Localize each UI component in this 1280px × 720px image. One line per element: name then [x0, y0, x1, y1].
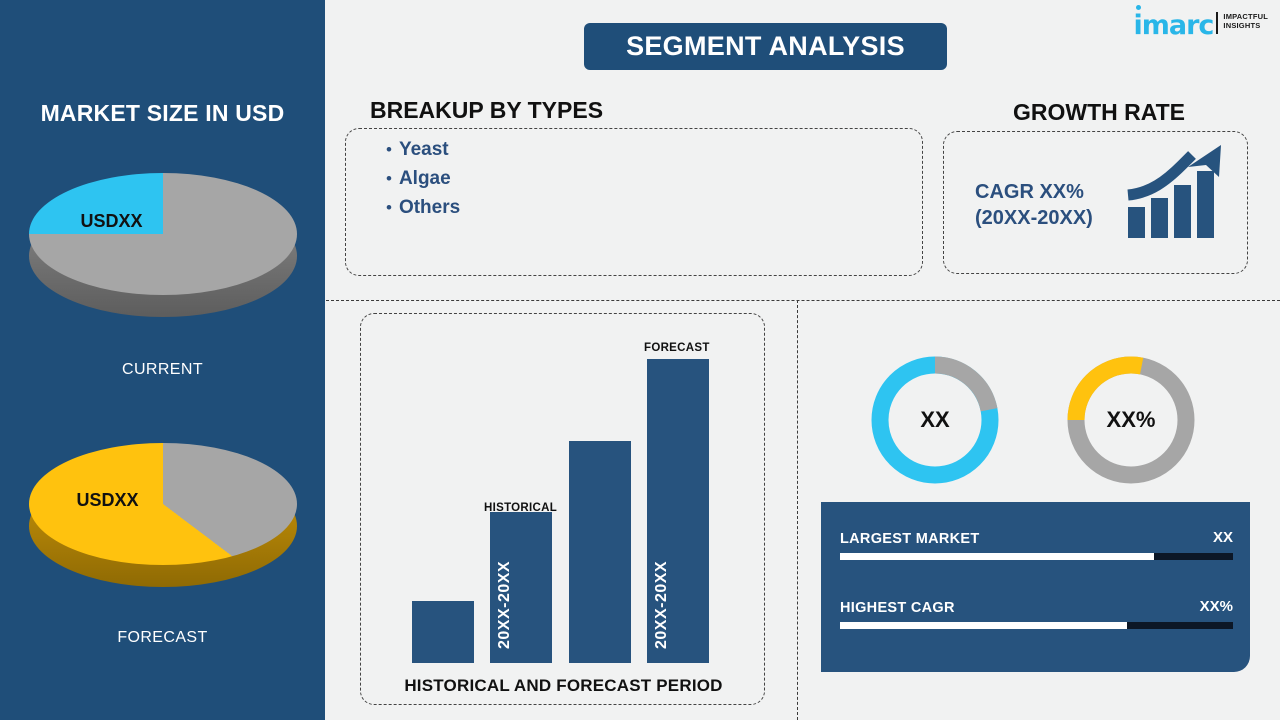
stat-row-highest-cagr: HIGHEST CAGR XX% — [840, 600, 1233, 629]
stat-row-largest-market: LARGEST MARKET XX — [840, 531, 1233, 560]
growth-arrow-chart-icon — [1126, 143, 1226, 241]
pie-chart-current: USDXX — [0, 173, 325, 323]
breakup-list: • Yeast • Algae • Others — [386, 139, 460, 226]
cagr-text: CAGR XX% (20XX-20XX) — [975, 179, 1093, 232]
breakup-section-title: BREAKUP BY TYPES — [370, 97, 603, 124]
bullet-icon: • — [386, 141, 392, 158]
logo-wordmark: imarc — [1133, 12, 1213, 39]
infographic-page: MARKET SIZE IN USD USDXX CURRENT USDXX F… — [0, 0, 1280, 720]
list-item-label: Others — [399, 197, 460, 219]
cagr-line-1: CAGR XX% — [975, 179, 1093, 205]
stat-value: XX% — [1200, 598, 1233, 615]
list-item: • Algae — [386, 168, 460, 190]
pie-chart-forecast: USDXX — [0, 443, 325, 593]
sidebar-title: MARKET SIZE IN USD — [0, 100, 325, 127]
pie-slice-label-current: USDXX — [81, 211, 143, 232]
logo-word-text: imarc — [1133, 12, 1213, 39]
cagr-line-2: (20XX-20XX) — [975, 205, 1093, 231]
list-item: • Others — [386, 197, 460, 219]
stat-progress-track — [840, 553, 1233, 560]
donut-chart-1: XX — [870, 355, 1000, 485]
list-item: • Yeast — [386, 139, 460, 161]
sidebar: MARKET SIZE IN USD USDXX CURRENT USDXX F… — [0, 0, 325, 720]
logo-tagline-line1: IMPACTFUL — [1223, 12, 1268, 21]
stat-label: HIGHEST CAGR — [840, 600, 955, 616]
stat-label: LARGEST MARKET — [840, 531, 980, 547]
bar-chart-panel: HISTORICAL 20XX-20XX FORECAST 20XX-20XX … — [360, 313, 765, 705]
stat-progress-fill — [840, 622, 1127, 629]
bar-chart-axis-label: HISTORICAL AND FORECAST PERIOD — [361, 676, 766, 696]
stat-value: XX — [1213, 529, 1233, 546]
horizontal-divider — [326, 300, 1280, 301]
page-title-banner: SEGMENT ANALYSIS — [584, 23, 947, 70]
bar-1 — [412, 601, 474, 663]
stat-header: LARGEST MARKET XX — [840, 531, 1233, 553]
pie-top-surface — [29, 173, 297, 295]
stat-progress-track — [840, 622, 1233, 629]
bar-2-year-label: 20XX-20XX — [496, 561, 514, 649]
pie-caption-current: CURRENT — [0, 361, 325, 379]
stats-panel: LARGEST MARKET XX HIGHEST CAGR XX% — [821, 502, 1250, 672]
pie-caption-forecast: FORECAST — [0, 629, 325, 647]
list-item-label: Algae — [399, 168, 451, 190]
bar-3 — [569, 441, 631, 663]
bullet-icon: • — [386, 170, 392, 187]
logo-divider — [1216, 12, 1218, 34]
page-title: SEGMENT ANALYSIS — [626, 31, 905, 62]
imarc-logo: imarc IMPACTFUL INSIGHTS — [1133, 12, 1268, 44]
logo-tagline-line2: INSIGHTS — [1223, 21, 1268, 30]
bullet-icon: • — [386, 199, 392, 216]
donut-2-value: XX% — [1066, 355, 1196, 485]
stat-progress-fill — [840, 553, 1154, 560]
pie-slice-label-forecast: USDXX — [77, 490, 139, 511]
donut-chart-2: XX% — [1066, 355, 1196, 485]
logo-tagline: IMPACTFUL INSIGHTS — [1223, 12, 1268, 31]
growth-section-title: GROWTH RATE — [943, 99, 1255, 126]
bar-tag-forecast: FORECAST — [644, 342, 710, 354]
stat-header: HIGHEST CAGR XX% — [840, 600, 1233, 622]
pie-top-surface — [29, 443, 297, 565]
bar-tag-historical: HISTORICAL — [484, 502, 557, 514]
vertical-divider — [797, 300, 798, 720]
donut-1-value: XX — [870, 355, 1000, 485]
bar-4-year-label: 20XX-20XX — [653, 561, 671, 649]
list-item-label: Yeast — [399, 139, 449, 161]
